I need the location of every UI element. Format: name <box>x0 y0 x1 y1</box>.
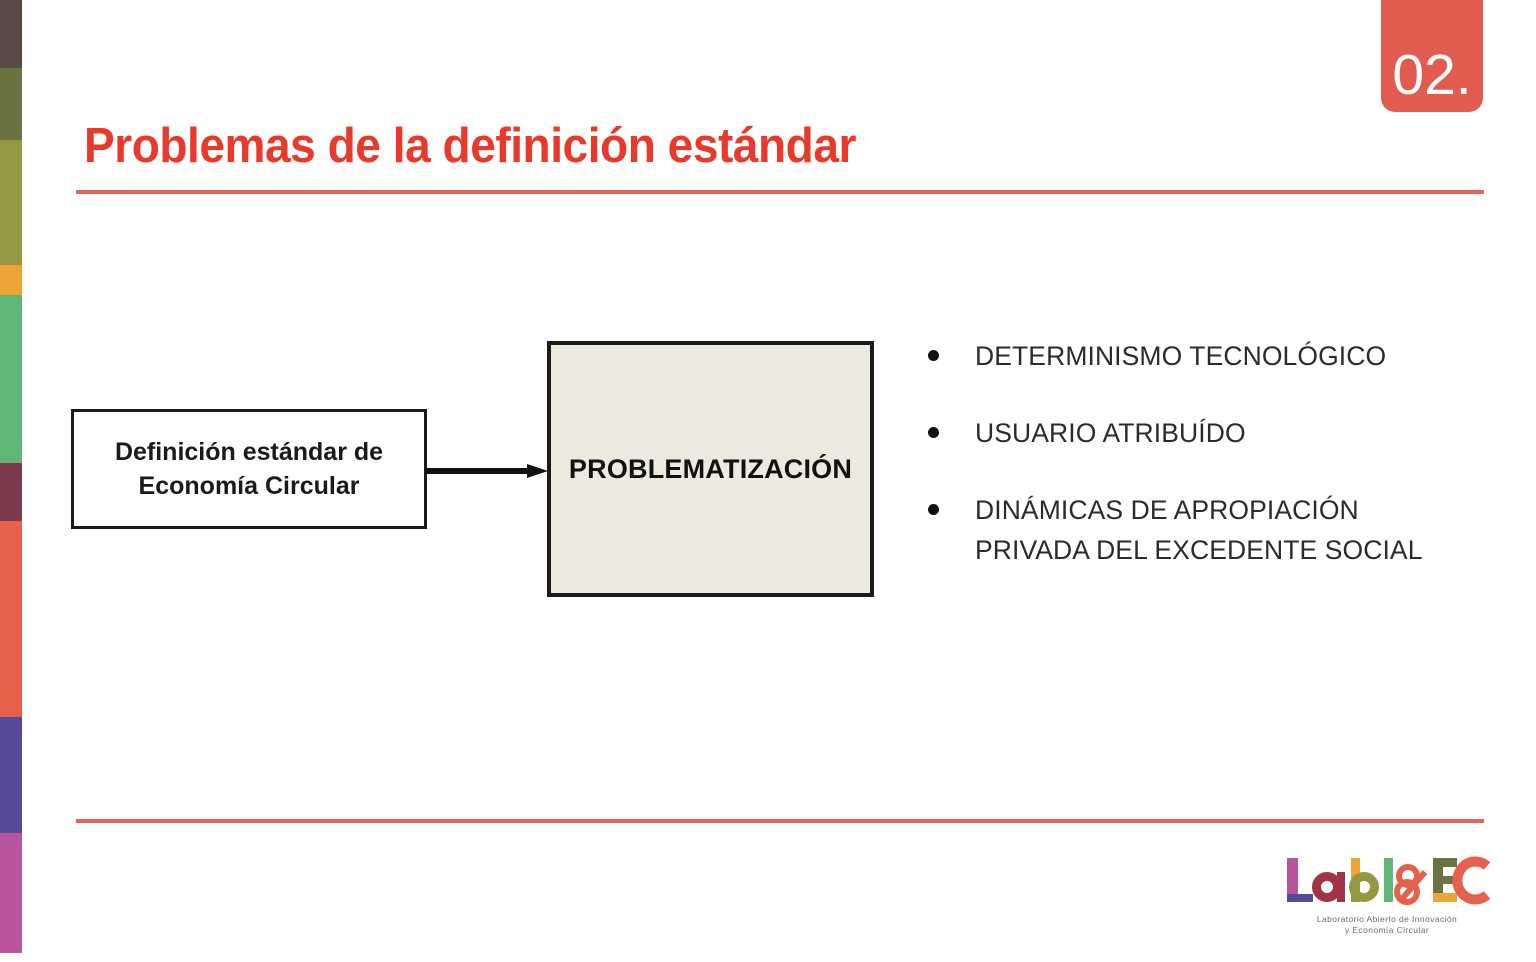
list-item-label: DINÁMICAS DE APROPIACIÓN PRIVADA DEL EXC… <box>975 490 1448 572</box>
color-stripe-segment-magenta <box>0 833 22 953</box>
diagram-input-box: Definición estándar de Economía Circular <box>71 409 427 529</box>
color-stripe-segment-coral-red <box>0 521 22 717</box>
arrow-right-icon <box>427 463 548 479</box>
slide-number-badge: 02. <box>1381 0 1483 112</box>
brand-logo-tagline: Laboratorio Abierto de Innovación y Econ… <box>1283 914 1491 936</box>
bullet-dot-icon <box>928 504 939 515</box>
title-divider <box>76 190 1484 194</box>
diagram-input-box-line1: Definición estándar de <box>115 438 383 466</box>
list-item: DINÁMICAS DE APROPIACIÓN PRIVADA DEL EXC… <box>928 490 1448 572</box>
list-item: USUARIO ATRIBUÍDO <box>928 413 1448 454</box>
brand-logo-tagline-line1: Laboratorio Abierto de Innovación <box>1317 914 1457 924</box>
page-title: Problemas de la definición estándar <box>84 118 856 174</box>
slide-number-label: 02. <box>1392 47 1471 104</box>
diagram-output-box: PROBLEMATIZACIÓN <box>547 341 874 597</box>
diagram-input-box-line2: Economía Circular <box>139 472 360 500</box>
list-item-label: DETERMINISMO TECNOLÓGICO <box>975 336 1386 377</box>
bullet-list: DETERMINISMO TECNOLÓGICOUSUARIO ATRIBUÍD… <box>928 336 1448 571</box>
bullet-dot-icon <box>928 427 939 438</box>
color-stripe-segment-indigo <box>0 717 22 833</box>
color-stripe <box>0 0 22 953</box>
footer-divider <box>76 819 1484 823</box>
color-stripe-segment-green <box>0 295 22 463</box>
color-stripe-segment-dark-brown <box>0 0 22 68</box>
color-stripe-segment-olive-green <box>0 68 22 140</box>
brand-logo: Laboratorio Abierto de Innovación y Econ… <box>1283 856 1491 942</box>
color-stripe-segment-olive-yellow <box>0 140 22 265</box>
color-stripe-segment-amber <box>0 265 22 295</box>
brand-logo-tagline-line2: y Economía Circular <box>1345 925 1429 935</box>
slide-canvas: 02. Problemas de la definición estándar … <box>0 0 1536 962</box>
bullet-dot-icon <box>928 350 939 361</box>
color-stripe-segment-maroon <box>0 463 22 521</box>
list-item: DETERMINISMO TECNOLÓGICO <box>928 336 1448 377</box>
brand-logo-wordmark <box>1283 856 1491 908</box>
list-item-label: USUARIO ATRIBUÍDO <box>975 413 1246 454</box>
diagram-input-box-label: Definición estándar de Economía Circular <box>105 435 393 504</box>
diagram-output-box-label: PROBLEMATIZACIÓN <box>569 454 852 485</box>
